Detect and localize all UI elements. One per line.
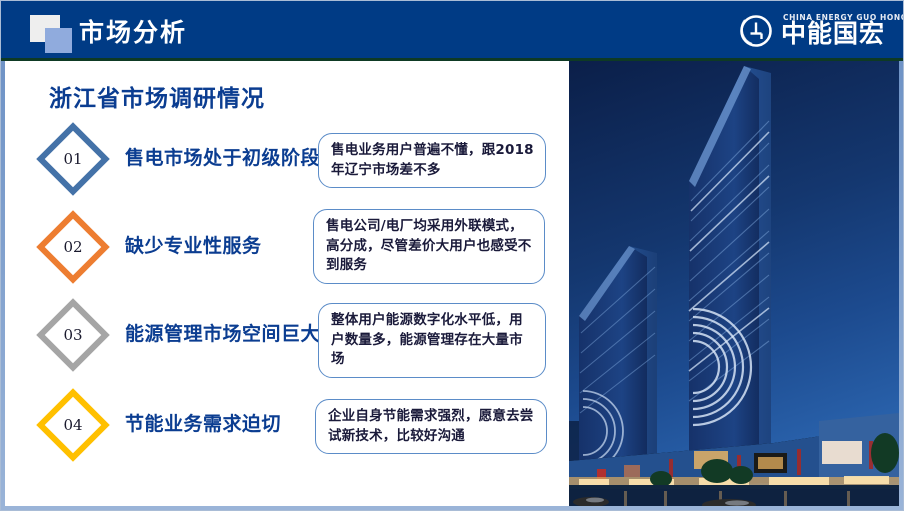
right-edge-accent <box>899 61 903 511</box>
row-label-04: 节能业务需求迫切 <box>125 409 281 436</box>
list-item: 03 能源管理市场空间巨大 整体用户能源数字化水平低，用户数量多，能源管理存在大… <box>1 305 561 385</box>
callout-box-02: 售电公司/电厂均采用外联模式，高分成，尽管差价大用户也感受不到服务 <box>313 209 545 284</box>
diamond-number-02: 02 <box>47 221 99 273</box>
left-edge-accent <box>1 61 5 511</box>
diamond-number-01: 01 <box>47 133 99 185</box>
row-label-01: 售电市场处于初级阶段 <box>125 143 320 170</box>
skyscraper-night-render-image <box>569 61 899 509</box>
bottom-edge-accent <box>1 506 904 510</box>
row-label-02: 缺少专业性服务 <box>125 231 262 258</box>
page-title: 市场分析 <box>79 13 187 49</box>
logo-chinese-text: 中能国宏 <box>781 21 885 46</box>
section-title: 浙江省市场调研情况 <box>49 79 265 113</box>
callout-text-02: 售电公司/电厂均采用外联模式，高分成，尽管差价大用户也感受不到服务 <box>326 217 534 276</box>
list-item: 04 节能业务需求迫切 企业自身节能需求强烈，愿意去尝试新技术，比较好沟通 <box>1 395 561 475</box>
callout-box-04: 企业自身节能需求强烈，愿意去尝试新技术，比较好沟通 <box>315 399 547 454</box>
callout-text-03: 整体用户能源数字化水平低，用户数量多，能源管理存在大量市场 <box>331 311 535 370</box>
diamond-number-03: 03 <box>47 309 99 361</box>
callout-text-01: 售电业务用户普遍不懂，跟2018年辽宁市场差不多 <box>331 141 535 180</box>
callout-text-04: 企业自身节能需求强烈，愿意去尝试新技术，比较好沟通 <box>328 407 536 446</box>
circle-g-logo-icon <box>739 14 773 48</box>
callout-box-01: 售电业务用户普遍不懂，跟2018年辽宁市场差不多 <box>318 133 546 188</box>
row-label-03: 能源管理市场空间巨大 <box>125 319 320 346</box>
diamond-number-04: 04 <box>47 399 99 451</box>
slide: 市场分析 CHINA ENERGY GUO HONG 中能国宏 浙江省市场调研情… <box>0 0 904 511</box>
list-item: 01 售电市场处于初级阶段 售电业务用户普遍不懂，跟2018年辽宁市场差不多 <box>1 129 561 209</box>
list-item: 02 缺少专业性服务 售电公司/电厂均采用外联模式，高分成，尽管差价大用户也感受… <box>1 217 561 297</box>
brand-logo: CHINA ENERGY GUO HONG 中能国宏 <box>735 10 895 50</box>
callout-box-03: 整体用户能源数字化水平低，用户数量多，能源管理存在大量市场 <box>318 303 546 378</box>
square-blue-icon <box>45 28 72 53</box>
